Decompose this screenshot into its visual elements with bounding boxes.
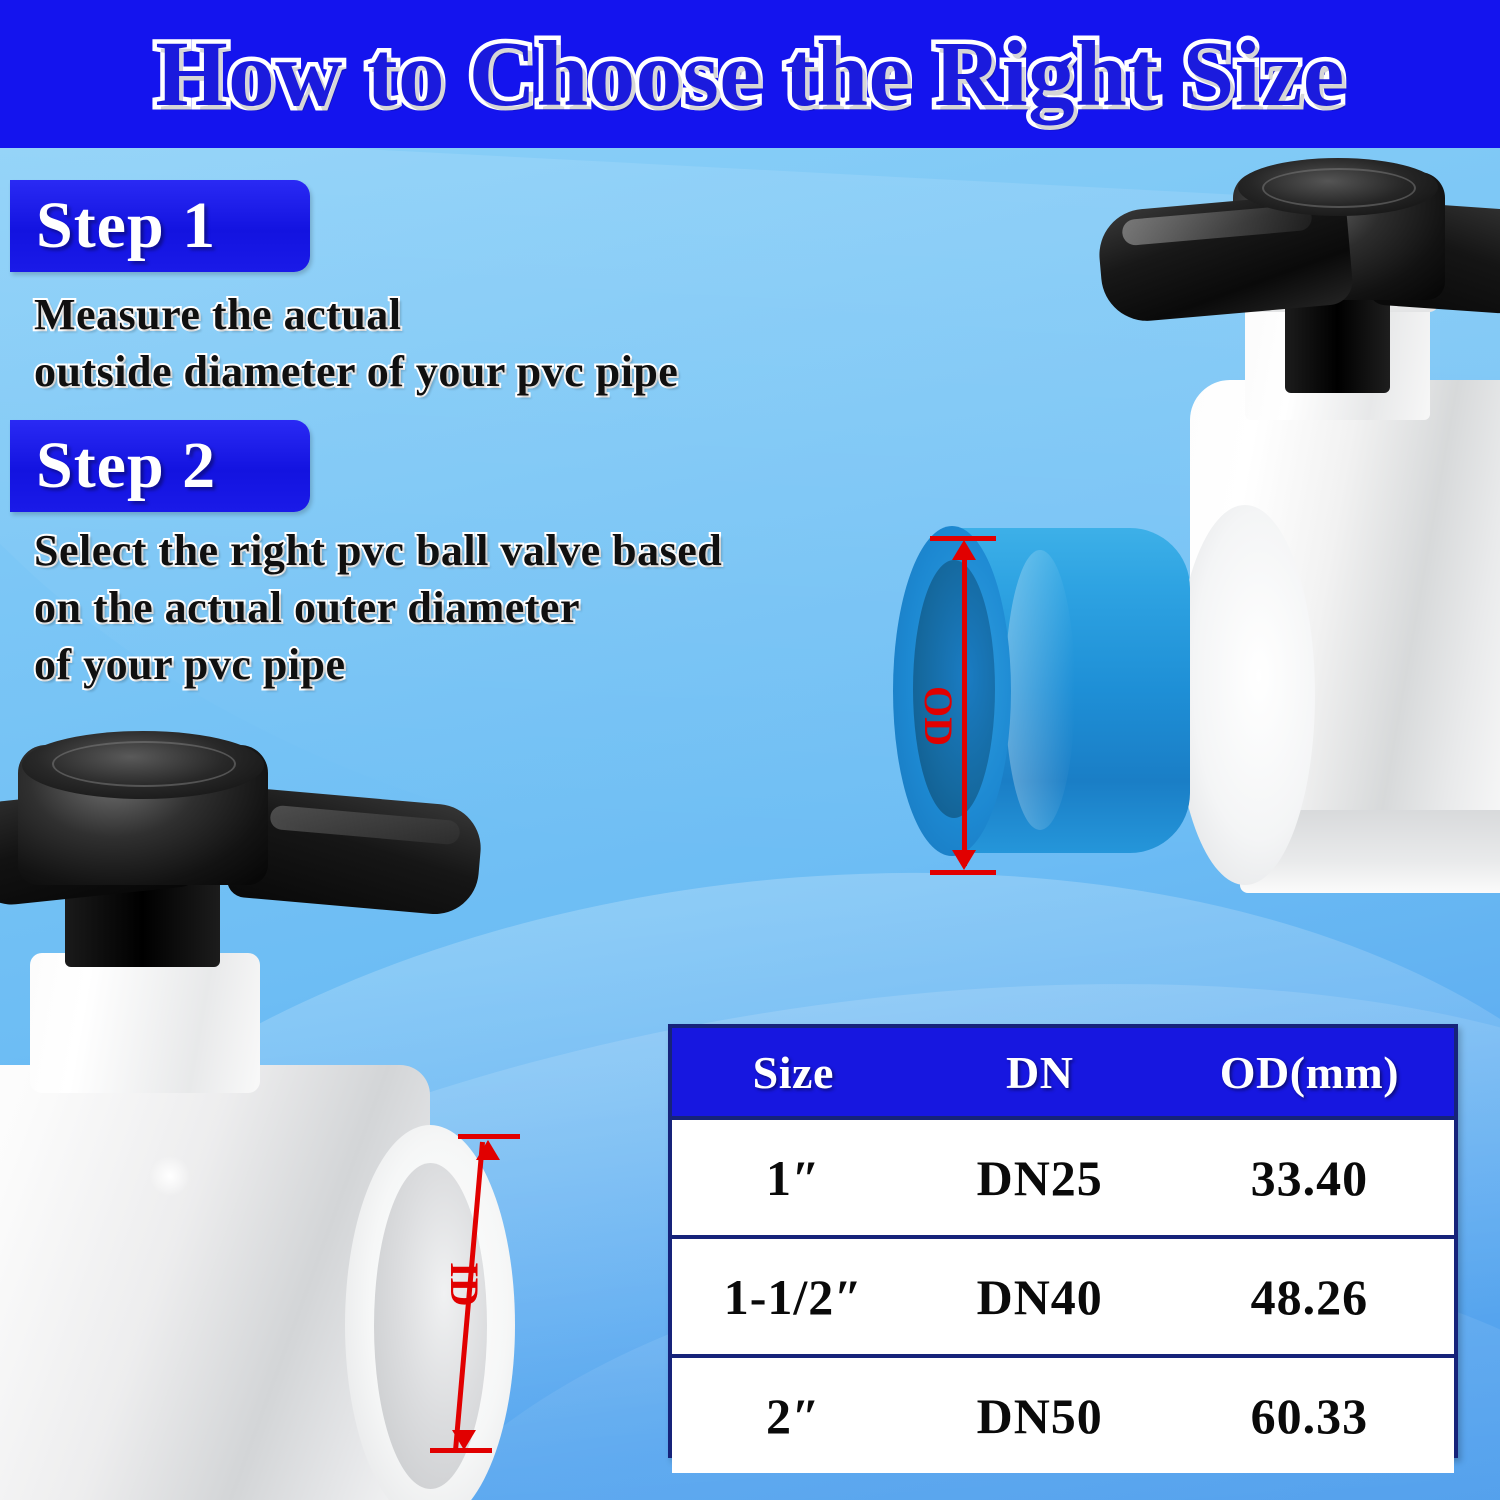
valve-bottom-neck xyxy=(30,953,260,1093)
id-arrow-down-icon xyxy=(452,1430,476,1450)
valve-bottom-highlight xyxy=(150,1155,190,1197)
id-arrow-up-icon xyxy=(476,1140,500,1160)
cell-size: 1″ xyxy=(672,1118,915,1237)
table-header-size: Size xyxy=(672,1028,915,1118)
valve-top-handle-cap-ring xyxy=(1262,168,1416,208)
cell-dn: DN40 xyxy=(915,1237,1165,1356)
title-banner: How to Choose the Right Size xyxy=(0,0,1500,148)
pipe-highlight xyxy=(1005,550,1075,830)
cell-od: 60.33 xyxy=(1165,1356,1454,1473)
cell-size: 2″ xyxy=(672,1356,915,1473)
step-1-badge: Step 1 xyxy=(10,180,310,272)
od-dimension-annotation: OD xyxy=(930,536,1000,876)
step-1-badge-label: Step 1 xyxy=(36,193,216,259)
cell-dn: DN25 xyxy=(915,1118,1165,1237)
od-label: OD xyxy=(918,686,958,746)
table-header-od: OD(mm) xyxy=(1165,1028,1454,1118)
id-tick-top xyxy=(458,1134,520,1139)
step-1-description: Measure the actual outside diameter of y… xyxy=(34,286,678,400)
od-tick-bottom xyxy=(930,870,996,875)
table-header-dn: DN xyxy=(915,1028,1165,1118)
step-2-badge-label: Step 2 xyxy=(36,433,216,499)
table-row: 1″ DN25 33.40 xyxy=(672,1118,1454,1237)
valve-bottom-handle-cap-ring xyxy=(52,741,236,787)
valve-top-stem xyxy=(1285,298,1390,393)
step-2-badge: Step 2 xyxy=(10,420,310,512)
od-dimension-line xyxy=(962,546,967,866)
table-header-row: Size DN OD(mm) xyxy=(672,1028,1454,1118)
table-row: 2″ DN50 60.33 xyxy=(672,1356,1454,1473)
id-label: ID xyxy=(444,1262,484,1306)
od-arrow-down-icon xyxy=(952,850,976,870)
id-dimension-annotation: ID xyxy=(440,1134,520,1454)
cell-od: 48.26 xyxy=(1165,1237,1454,1356)
step-2-description: Select the right pvc ball valve based on… xyxy=(34,522,722,694)
infographic-canvas: How to Choose the Right Size Step 1 Meas… xyxy=(0,0,1500,1500)
cell-dn: DN50 xyxy=(915,1356,1165,1473)
od-arrow-up-icon xyxy=(952,540,976,560)
table-row: 1-1/2″ DN40 48.26 xyxy=(672,1237,1454,1356)
page-title: How to Choose the Right Size xyxy=(155,28,1344,121)
size-reference-table: Size DN OD(mm) 1″ DN25 33.40 1-1/2″ DN40… xyxy=(668,1024,1458,1458)
cell-size: 1-1/2″ xyxy=(672,1237,915,1356)
cell-od: 33.40 xyxy=(1165,1118,1454,1237)
